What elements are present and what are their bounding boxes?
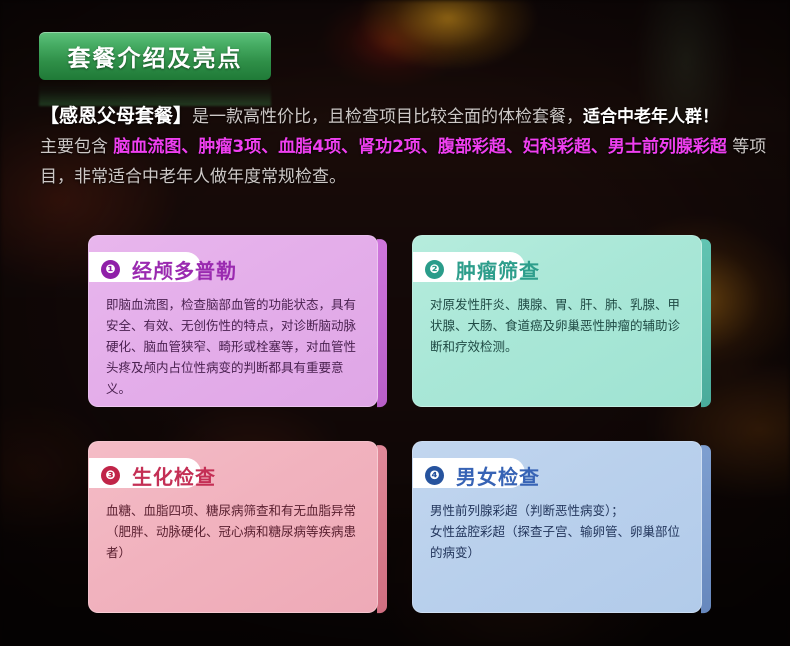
card-title: 男女检查 — [456, 461, 540, 490]
card-face: ❷ 肿瘤筛查 对原发性肝炎、胰腺、胃、肝、肺、乳腺、甲状腺、大肠、食道癌及卵巢恶… — [412, 235, 702, 407]
card-header: ❷ 肿瘤筛查 — [413, 252, 701, 286]
card-header: ❹ 男女检查 — [413, 458, 701, 492]
card-header: ❸ 生化检查 — [89, 458, 377, 492]
card-face: ❶ 经颅多普勒 即脑血流图，检查脑部血管的功能状态，具有安全、有效、无创伤性的特… — [88, 235, 378, 407]
intro-line-2-suffix: 等项 — [727, 137, 766, 157]
card-side-panel — [377, 239, 387, 407]
card-number-badge: ❶ — [101, 260, 120, 279]
card-number-badge: ❷ — [425, 260, 444, 279]
card-side-panel — [377, 445, 387, 613]
card-number-badge: ❸ — [101, 466, 120, 485]
card-body-text: 即脑血流图，检查脑部血管的功能状态，具有安全、有效、无创伤性的特点，对诊断脑动脉… — [106, 294, 359, 399]
intro-line-2: 主要包含 脑血流图、肿瘤3项、血脂4项、肾功2项、腹部彩超、妇科彩超、男士前列腺… — [40, 132, 756, 162]
card-header: ❶ 经颅多普勒 — [89, 252, 377, 286]
feature-card-2[interactable]: ❷ 肿瘤筛查 对原发性肝炎、胰腺、胃、肝、肺、乳腺、甲状腺、大肠、食道癌及卵巢恶… — [412, 235, 702, 407]
card-body-text: 血糖、血脂四项、糖尿病筛查和有无血脂异常（肥胖、动脉硬化、冠心病和糖尿病等疾病患… — [106, 500, 359, 563]
card-side-panel — [701, 445, 711, 613]
intro-items-highlight: 脑血流图、肿瘤3项、血脂4项、肾功2项、腹部彩超、妇科彩超、男士前列腺彩超 — [113, 137, 726, 157]
intro-line-3: 目，非常适合中老年人做年度常规检查。 — [40, 162, 756, 192]
feature-card-4[interactable]: ❹ 男女检查 男性前列腺彩超（判断恶性病变）； 女性盆腔彩超（探查子宫、输卵管、… — [412, 441, 702, 613]
intro-line-1: 【感恩父母套餐】是一款高性价比，且检查项目比较全面的体检套餐，适合中老年人群！ — [40, 101, 756, 132]
card-number-badge: ❹ — [425, 466, 444, 485]
card-title: 肿瘤筛查 — [456, 255, 540, 284]
feature-card-1[interactable]: ❶ 经颅多普勒 即脑血流图，检查脑部血管的功能状态，具有安全、有效、无创伤性的特… — [88, 235, 378, 407]
card-body-text: 男性前列腺彩超（判断恶性病变）； 女性盆腔彩超（探查子宫、输卵管、卵巢部位的病变… — [430, 500, 683, 563]
banner-title: 套餐介绍及亮点 — [68, 39, 243, 73]
card-title: 经颅多普勒 — [132, 255, 237, 284]
section-banner: 套餐介绍及亮点 — [39, 32, 271, 80]
package-name: 【感恩父母套餐】 — [40, 105, 192, 127]
card-title: 生化检查 — [132, 461, 216, 490]
card-face: ❹ 男女检查 男性前列腺彩超（判断恶性病变）； 女性盆腔彩超（探查子宫、输卵管、… — [412, 441, 702, 613]
card-side-panel — [701, 239, 711, 407]
banner-plate: 套餐介绍及亮点 — [39, 32, 271, 80]
promo-page: 套餐介绍及亮点 【感恩父母套餐】是一款高性价比，且检查项目比较全面的体检套餐，适… — [0, 0, 790, 646]
intro-line-2-prefix: 主要包含 — [40, 137, 113, 157]
intro-line-3-text: 目，非常适合中老年人做年度常规检查。 — [40, 167, 346, 187]
card-body-text: 对原发性肝炎、胰腺、胃、肝、肺、乳腺、甲状腺、大肠、食道癌及卵巢恶性肿瘤的辅助诊… — [430, 294, 683, 357]
intro-line-1-normal: 是一款高性价比，且检查项目比较全面的体检套餐， — [192, 107, 583, 127]
card-face: ❸ 生化检查 血糖、血脂四项、糖尿病筛查和有无血脂异常（肥胖、动脉硬化、冠心病和… — [88, 441, 378, 613]
feature-cards: ❶ 经颅多普勒 即脑血流图，检查脑部血管的功能状态，具有安全、有效、无创伤性的特… — [88, 235, 702, 613]
intro-paragraph: 【感恩父母套餐】是一款高性价比，且检查项目比较全面的体检套餐，适合中老年人群！ … — [40, 101, 756, 192]
feature-card-3[interactable]: ❸ 生化检查 血糖、血脂四项、糖尿病筛查和有无血脂异常（肥胖、动脉硬化、冠心病和… — [88, 441, 378, 613]
intro-line-1-emphasis: 适合中老年人群！ — [583, 107, 719, 127]
